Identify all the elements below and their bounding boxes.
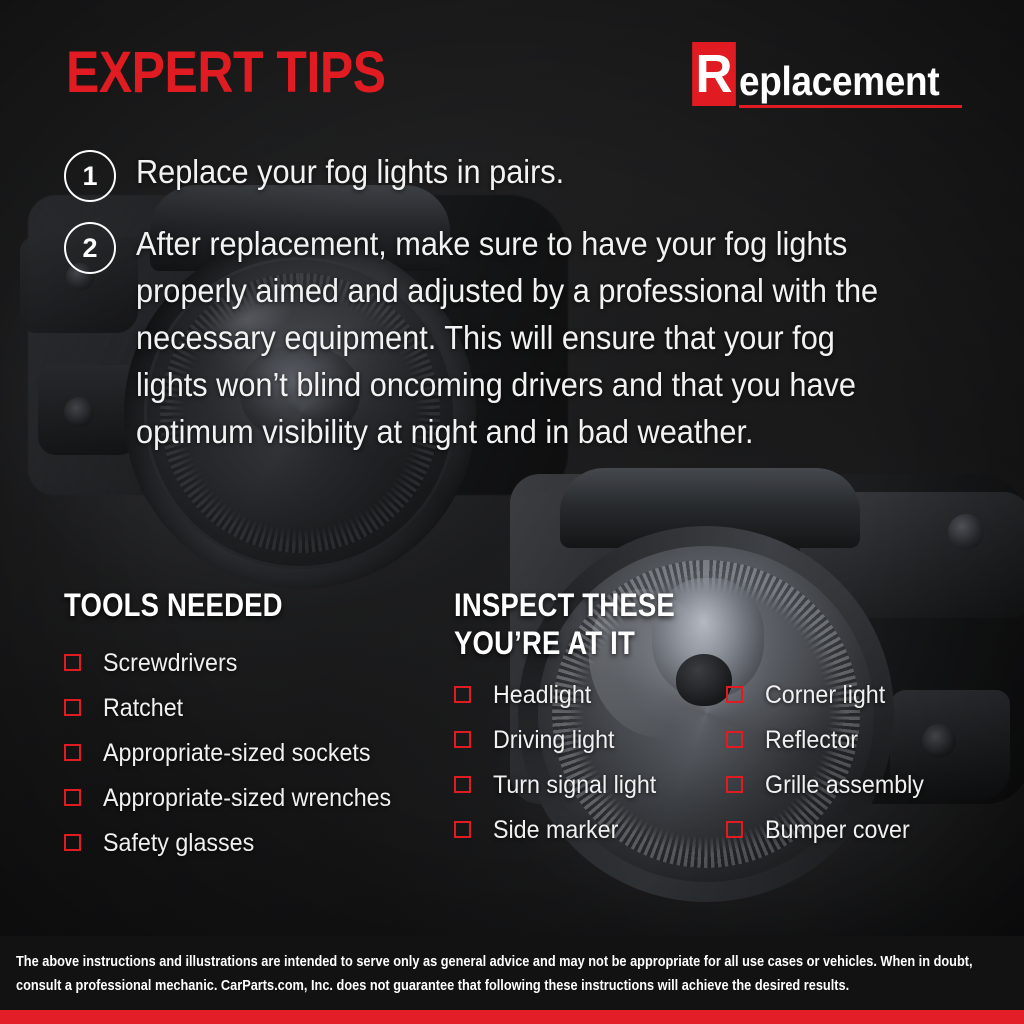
list-item[interactable]: Reflector	[726, 717, 936, 762]
footer-disclaimer-bar: The above instructions and illustrations…	[0, 936, 1024, 1010]
list-item[interactable]: Appropriate-sized wrenches	[64, 775, 454, 820]
list-item[interactable]: Headlight	[454, 672, 726, 717]
list-item-label: Appropriate-sized wrenches	[103, 783, 391, 813]
inspect-these-list: Headlight Driving light Turn signal ligh…	[454, 672, 974, 852]
list-item[interactable]: Side marker	[454, 807, 726, 852]
checkbox-icon[interactable]	[454, 776, 471, 793]
checkbox-icon[interactable]	[64, 654, 81, 671]
checkbox-icon[interactable]	[454, 821, 471, 838]
inspect-these-heading: INSPECT THESE YOU’RE AT IT	[454, 586, 901, 662]
checkbox-icon[interactable]	[64, 834, 81, 851]
list-item[interactable]: Safety glasses	[64, 820, 454, 865]
list-item[interactable]: Grille assembly	[726, 762, 936, 807]
checkbox-icon[interactable]	[726, 821, 743, 838]
list-item[interactable]: Bumper cover	[726, 807, 936, 852]
checkbox-icon[interactable]	[64, 789, 81, 806]
tip-item: 2 After replacement, make sure to have y…	[64, 220, 964, 455]
list-item-label: Reflector	[765, 725, 858, 755]
list-item-label: Headlight	[493, 680, 591, 710]
list-item-label: Ratchet	[103, 693, 183, 723]
tip-text: Replace your fog lights in pairs.	[136, 148, 906, 195]
list-item-label: Grille assembly	[765, 770, 924, 800]
tip-number-badge: 2	[64, 222, 116, 274]
tip-item: 1 Replace your fog lights in pairs.	[64, 148, 964, 202]
checkbox-icon[interactable]	[454, 686, 471, 703]
list-item-label: Bumper cover	[765, 815, 910, 845]
bottom-accent-bar	[0, 1010, 1024, 1024]
list-item-label: Appropriate-sized sockets	[103, 738, 371, 768]
inspect-column-right: Corner light Reflector Grille assembly	[726, 672, 936, 852]
checkbox-icon[interactable]	[726, 776, 743, 793]
tip-number-badge: 1	[64, 150, 116, 202]
tools-needed-heading: TOOLS NEEDED	[64, 586, 399, 624]
checkbox-icon[interactable]	[454, 731, 471, 748]
checkbox-icon[interactable]	[64, 699, 81, 716]
inspect-column-left: Headlight Driving light Turn signal ligh…	[454, 672, 726, 852]
footer-disclaimer-text: The above instructions and illustrations…	[16, 950, 1002, 998]
list-item-label: Corner light	[765, 680, 885, 710]
list-item-label: Side marker	[493, 815, 618, 845]
inspect-these-section: INSPECT THESE YOU’RE AT IT Headlight Dri…	[454, 586, 974, 865]
logo-initial-badge: R	[693, 42, 737, 106]
brand-logo: R eplacement	[691, 40, 962, 106]
tools-needed-section: TOOLS NEEDED Screwdrivers Ratchet Approp…	[64, 586, 454, 865]
content-layer: EXPERT TIPS R eplacement 1 Replace your …	[0, 0, 1024, 1024]
checkbox-icon[interactable]	[726, 686, 743, 703]
checklist-columns: TOOLS NEEDED Screwdrivers Ratchet Approp…	[64, 586, 974, 865]
checkbox-icon[interactable]	[64, 744, 81, 761]
list-item[interactable]: Screwdrivers	[64, 640, 454, 685]
list-item[interactable]: Turn signal light	[454, 762, 726, 807]
list-item-label: Screwdrivers	[103, 648, 237, 678]
list-item-label: Safety glasses	[103, 828, 254, 858]
page-title: EXPERT TIPS	[66, 42, 386, 104]
tools-needed-list: Screwdrivers Ratchet Appropriate-sized s…	[64, 640, 454, 865]
list-item-label: Driving light	[493, 725, 614, 755]
list-item-label: Turn signal light	[493, 770, 656, 800]
logo-wordmark-wrap: eplacement	[739, 58, 962, 106]
tip-text: After replacement, make sure to have you…	[136, 220, 906, 455]
list-item[interactable]: Ratchet	[64, 685, 454, 730]
expert-tips-infographic: EXPERT TIPS R eplacement 1 Replace your …	[0, 0, 1024, 1024]
logo-underline	[739, 105, 962, 108]
logo-wordmark: eplacement	[739, 58, 939, 104]
checkbox-icon[interactable]	[726, 731, 743, 748]
list-item[interactable]: Corner light	[726, 672, 936, 717]
list-item[interactable]: Driving light	[454, 717, 726, 762]
tips-list: 1 Replace your fog lights in pairs. 2 Af…	[64, 148, 964, 473]
list-item[interactable]: Appropriate-sized sockets	[64, 730, 454, 775]
